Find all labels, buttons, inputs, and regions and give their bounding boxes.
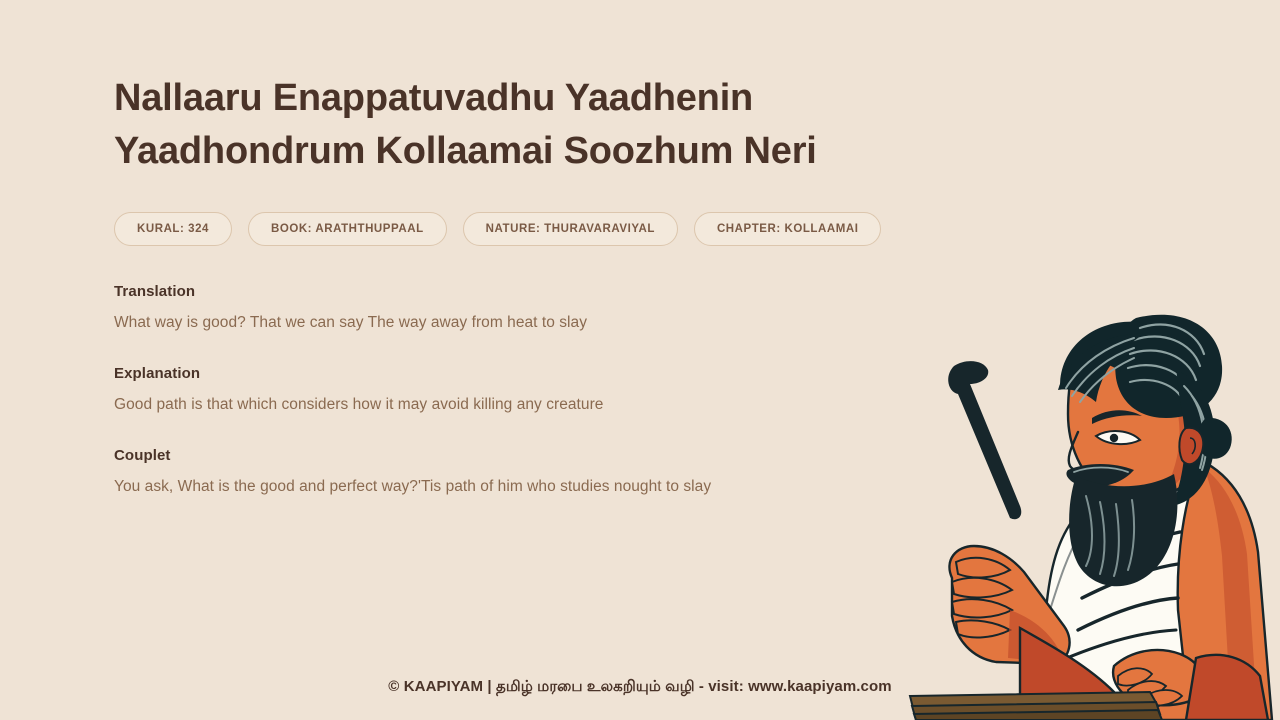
hair-highlight [1128,324,1204,402]
hair-sweep [1058,334,1144,402]
beard-highlight [1086,496,1134,576]
cloth-fold [1078,598,1178,630]
hair-knot-tail [1198,418,1232,459]
hair-bun [1115,315,1222,418]
left-forearm [1020,628,1114,720]
eye-shape [1096,431,1140,444]
section-text-couplet: You ask, What is the good and perfect wa… [114,476,994,498]
left-hand-shape [949,546,1069,664]
footer-credit: © KAAPIYAM | தமிழ் மரபை உலகறியும் வழி - … [0,678,1280,697]
finger-group [952,558,1012,638]
ear-shape [1179,428,1203,464]
cloth-fold [1082,564,1178,598]
cloth-fold [1088,532,1180,566]
nose-shape [1069,432,1088,471]
section-label-couplet: Couplet [114,447,994,464]
hair-front [1060,322,1140,386]
section-label-explanation: Explanation [114,365,994,382]
badge-chapter: CHAPTER: KOLLAAMAI [694,212,882,246]
eyebrow [1092,410,1142,424]
cloth-fold [1062,630,1176,660]
moustache [1066,464,1134,487]
face-shape [1068,349,1206,501]
section-explanation: Explanation Good path is that which cons… [114,365,994,416]
page-title: Nallaaru Enappatuvadhu Yaadhenin Yaadhon… [114,72,984,178]
cloth-fold [1050,534,1080,610]
badge-nature: NATURE: THURAVARAVIYAL [463,212,678,246]
torso-shadow [1204,468,1256,696]
section-couplet: Couplet You ask, What is the good and pe… [114,447,994,498]
badge-kural: KURAL: 324 [114,212,232,246]
cloth-fold [1096,500,1184,536]
badge-row: KURAL: 324 BOOK: ARATHTHUPPAAL NATURE: T… [114,212,994,246]
pupil [1110,434,1118,442]
section-translation: Translation What way is good? That we ca… [114,283,994,334]
section-text-translation: What way is good? That we can say The wa… [114,312,994,334]
kural-card: Nallaaru Enappatuvadhu Yaadhenin Yaadhon… [0,0,1280,720]
face-shadow [1140,354,1196,494]
moustache-highlight [1074,468,1128,473]
ear-detail [1190,438,1195,454]
hair-highlight [1066,338,1134,402]
hair-highlight [1184,386,1207,470]
badge-book: BOOK: ARATHTHUPPAAL [248,212,447,246]
kural-content: Nallaaru Enappatuvadhu Yaadhenin Yaadhon… [114,72,994,498]
hand-shadow [1008,610,1060,662]
section-label-translation: Translation [114,283,994,300]
section-text-explanation: Good path is that which considers how it… [114,394,994,416]
cloth-shape [1046,462,1200,702]
hair-back [1172,370,1215,506]
beard-shape [1069,474,1177,586]
neck-shape [1150,430,1204,476]
